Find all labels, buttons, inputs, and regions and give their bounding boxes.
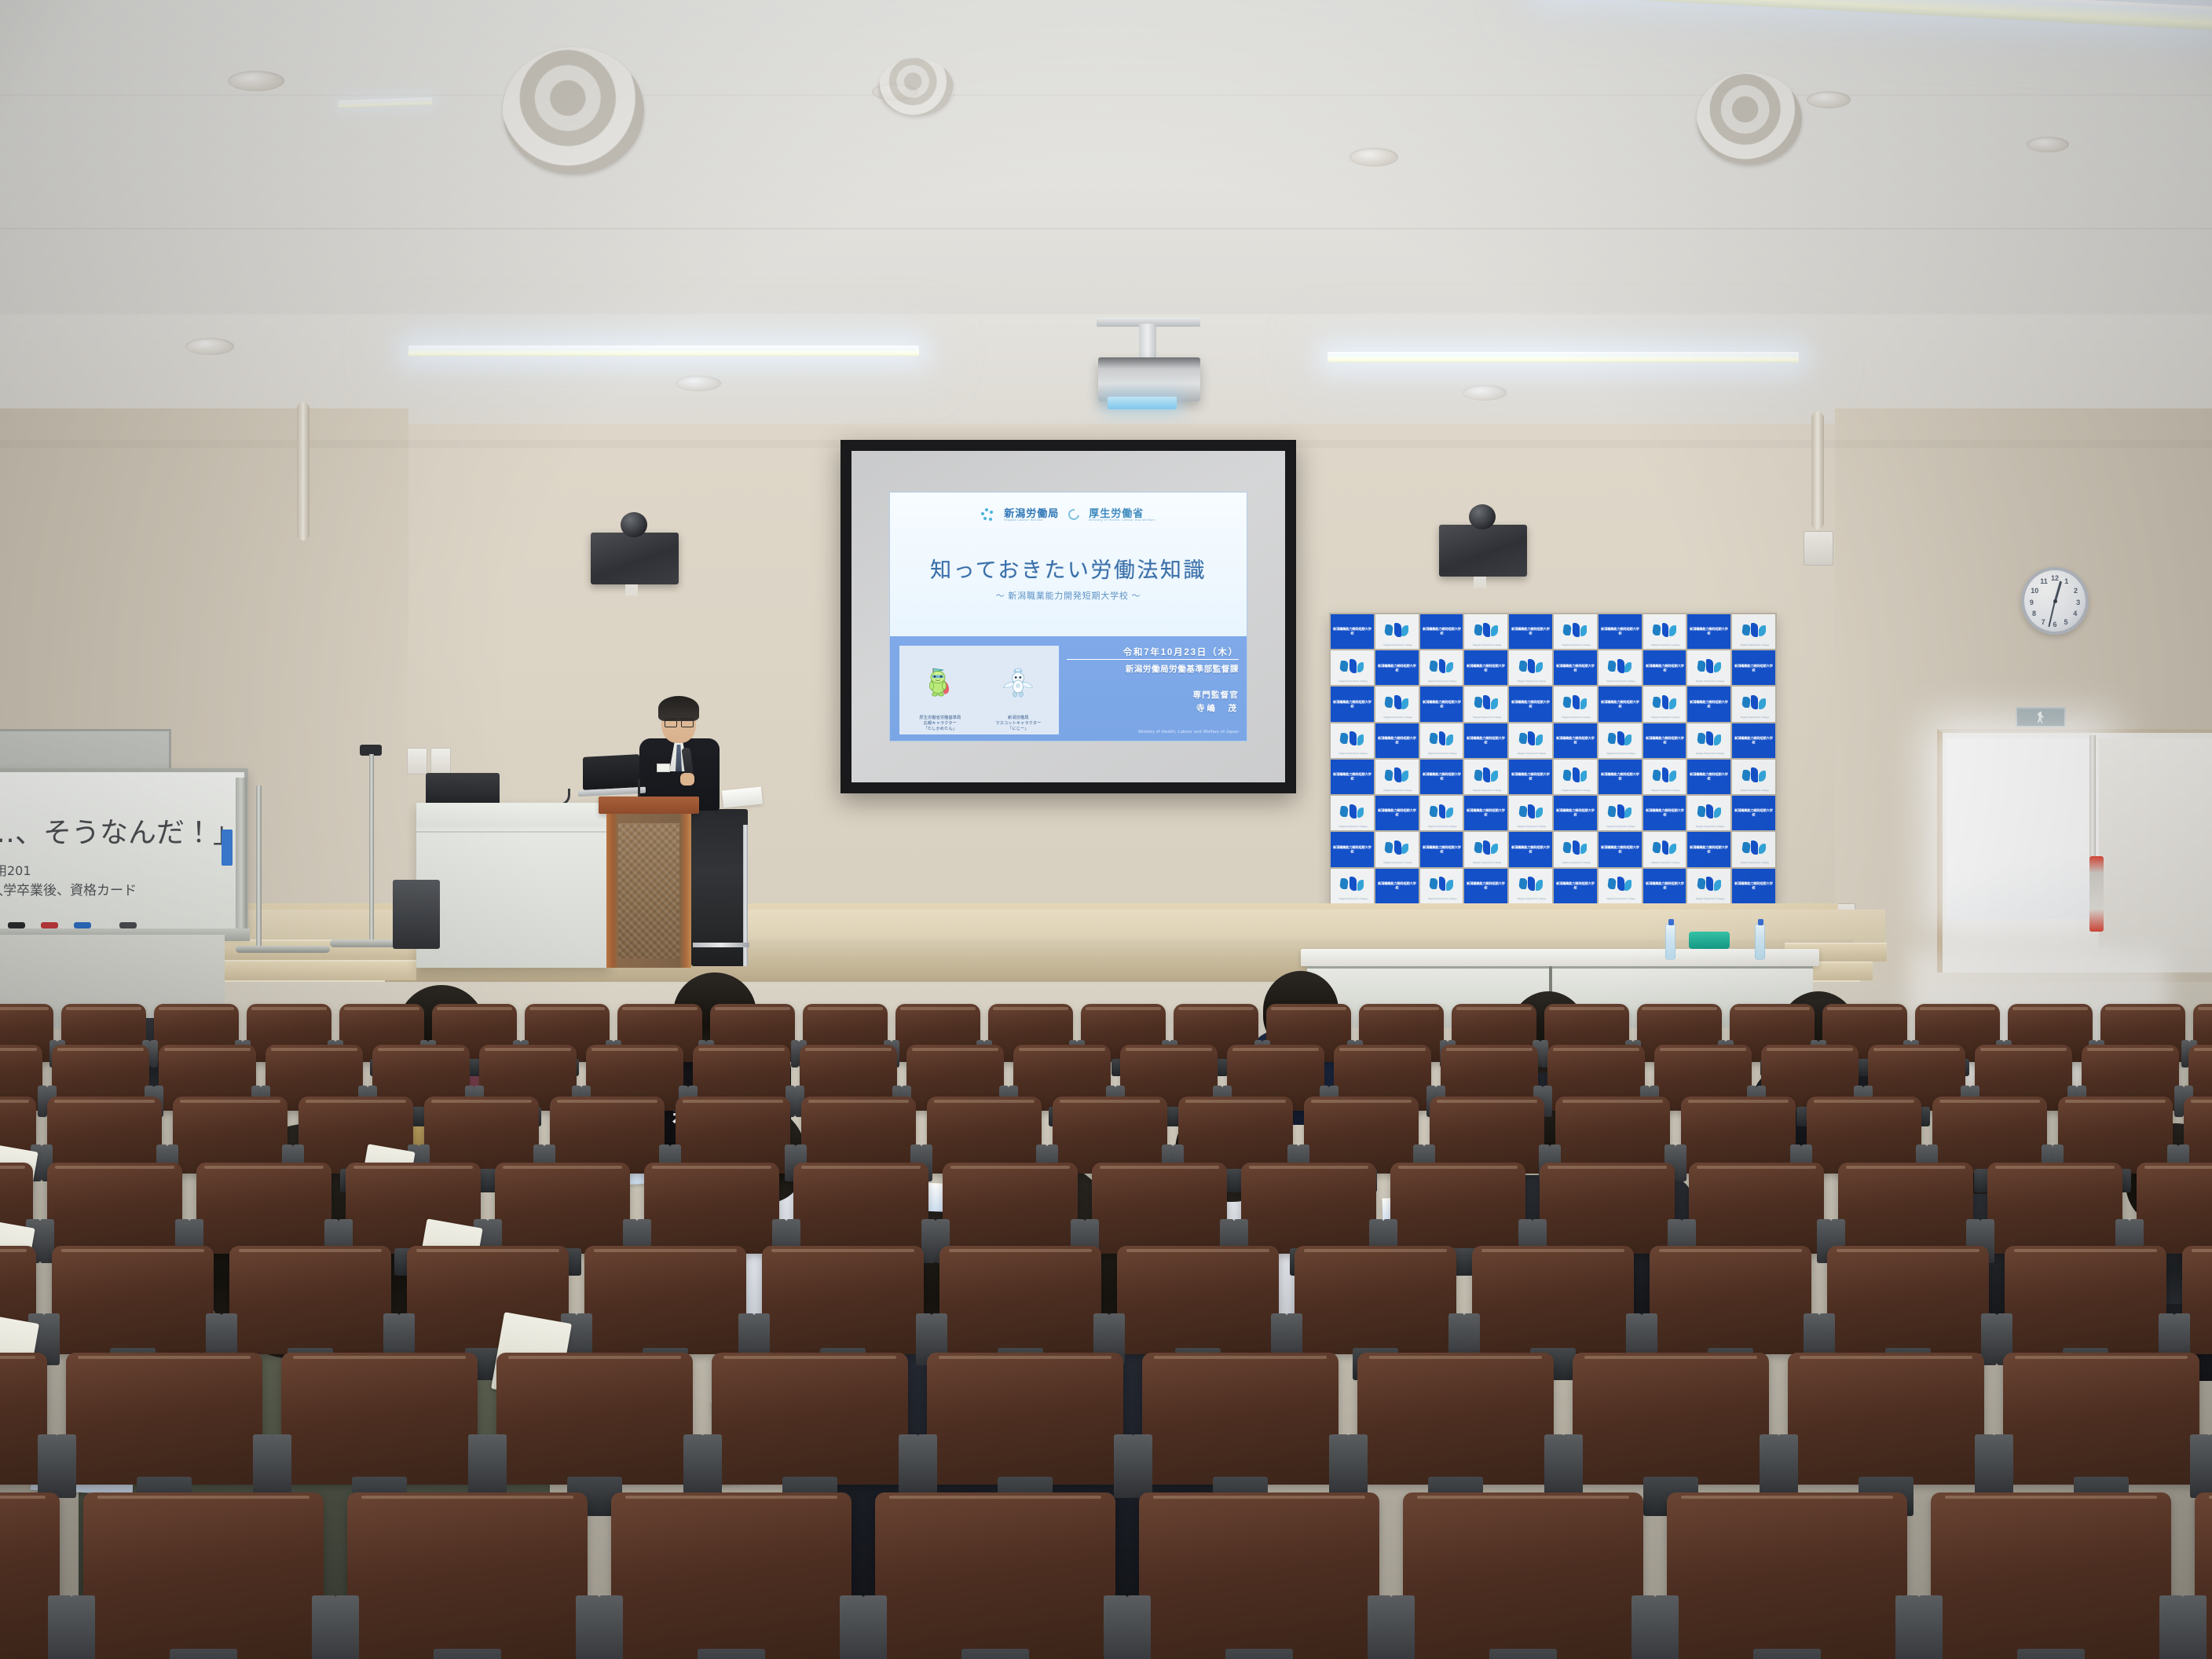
presenter-name-badge (657, 764, 670, 772)
backdrop-tile-logo: Niigata Polytechnic College (1331, 650, 1374, 685)
backdrop-tile-label: 新潟職業能力開発短期大学校 (1467, 664, 1506, 672)
auditorium-seat[interactable] (496, 1353, 693, 1485)
polytechnic-logo-icon: Niigata Polytechnic College (1606, 803, 1633, 824)
seat-pedestal (698, 1649, 765, 1659)
backdrop-tile-text: 新潟職業能力開発短期大学校 (1732, 869, 1775, 903)
backdrop-logo-caption: Niigata Polytechnic College (1383, 789, 1410, 792)
front-table-top (1301, 949, 1819, 966)
backdrop-tile-logo: Niigata Polytechnic College (1331, 723, 1374, 758)
mascot-caption: 新潟労働局 マスコットキャラクター 「にじー」 (995, 716, 1041, 732)
clock-numeral: 10 (2031, 587, 2038, 595)
polytechnic-logo-icon: Niigata Polytechnic College (1741, 766, 1767, 787)
backdrop-tile-logo: Niigata Polytechnic College (1732, 760, 1775, 794)
backdrop-tile-label: 新潟職業能力開発短期大学校 (1645, 736, 1684, 745)
backdrop-tile-label: 新潟職業能力開発短期大学校 (1377, 736, 1416, 745)
downlight-icon (185, 338, 234, 355)
polytechnic-logo-icon: Niigata Polytechnic College (1383, 694, 1410, 715)
fire-extinguisher-icon (2089, 856, 2104, 932)
slide-lower-section: 厚生労働省労働基準局 広報キャラクター 「たしかめたん」 (890, 636, 1247, 741)
auditorium-seat[interactable] (66, 1353, 262, 1485)
auditorium-seat[interactable] (1667, 1492, 1907, 1659)
seat-armrest (899, 1434, 918, 1498)
downlight-icon (1807, 91, 1851, 108)
backdrop-tile-text: 新潟職業能力開発短期大学校 (1509, 832, 1552, 866)
backdrop-logo-caption: Niigata Polytechnic College (1741, 643, 1767, 646)
backdrop-tile-label: 新潟職業能力開発短期大学校 (1555, 809, 1595, 818)
lectern-body (606, 814, 691, 968)
backdrop-logo-caption: Niigata Polytechnic College (1562, 789, 1588, 792)
auditorium-seat[interactable] (1689, 1163, 1824, 1254)
polytechnic-logo-icon: Niigata Polytechnic College (1562, 621, 1588, 642)
seat-armrest (1675, 1144, 1687, 1181)
seat-armrest (1329, 1434, 1349, 1498)
wall-clock: 12 1 2 3 4 5 6 7 8 9 10 11 (2021, 567, 2089, 635)
backdrop-tile-logo: Niigata Polytechnic College (1420, 723, 1463, 758)
auditorium-seat[interactable] (1117, 1246, 1279, 1354)
backdrop-tile-logo: Niigata Polytechnic College (1643, 760, 1686, 794)
slide-date: 令和7年10月23日（木） (1067, 646, 1239, 660)
backdrop-tile-logo: Niigata Polytechnic College (1643, 614, 1686, 649)
seat-armrest (1544, 1434, 1564, 1498)
polytechnic-logo-icon: Niigata Polytechnic College (1473, 621, 1500, 642)
backdrop-tile-logo: Niigata Polytechnic College (1687, 723, 1730, 758)
backdrop-tile-text: 新潟職業能力開発短期大学校 (1509, 760, 1552, 794)
wall-switch[interactable] (430, 748, 451, 775)
slide-speaker-name: 寺嶋 茂 (1067, 702, 1239, 714)
mascot-tashikametan: 厚生労働省労働基準局 広報キャラクター 「たしかめたん」 (903, 650, 978, 732)
backdrop-logo-caption: Niigata Polytechnic College (1741, 716, 1767, 719)
logo-text-en: Ministry of Health, Labour and Welfare (1089, 518, 1155, 522)
projector (1098, 357, 1200, 401)
auditorium-seat[interactable] (875, 1492, 1115, 1659)
auditorium-seat[interactable] (762, 1246, 924, 1354)
clock-numeral: 4 (2073, 610, 2077, 617)
backdrop-tile-logo: Niigata Polytechnic College (1599, 796, 1642, 830)
backdrop-logo-caption: Niigata Polytechnic College (1518, 752, 1544, 755)
backdrop-tile-text: 新潟職業能力開発短期大学校 (1687, 687, 1730, 721)
backdrop-tile-logo: Niigata Polytechnic College (1464, 614, 1507, 649)
backdrop-tile-logo: Niigata Polytechnic College (1643, 832, 1686, 866)
projection-screen-surface: 新潟労働局 Niigata Labour Bureau 厚生労働省 Minist… (851, 451, 1285, 782)
backdrop-logo-caption: Niigata Polytechnic College (1562, 643, 1588, 646)
backdrop-tile-label: 新潟職業能力開発短期大学校 (1422, 845, 1461, 854)
polytechnic-logo-icon: Niigata Polytechnic College (1518, 730, 1544, 751)
backdrop-tile-label: 新潟職業能力開発短期大学校 (1690, 700, 1729, 709)
backdrop-tile-logo: Niigata Polytechnic College (1687, 650, 1730, 685)
auditorium-seat[interactable] (1573, 1353, 1769, 1485)
seat-armrest (599, 1595, 624, 1659)
backdrop-tile-text: 新潟職業能力開発短期大学校 (1687, 832, 1730, 866)
ceiling-light-strip (1328, 352, 1799, 363)
auditorium-seat[interactable] (793, 1163, 928, 1254)
floor-speaker (393, 880, 440, 949)
backdrop-logo-caption: Niigata Polytechnic College (1428, 679, 1455, 683)
auditorium-seat[interactable] (644, 1163, 779, 1254)
backdrop-tile-logo: Niigata Polytechnic College (1420, 796, 1463, 830)
backdrop-tile-text: 新潟職業能力開発短期大学校 (1375, 723, 1419, 758)
backdrop-tile-logo: Niigata Polytechnic College (1732, 687, 1775, 721)
mascot-owner: 新潟労働局 (995, 716, 1041, 721)
mascot-name: 「にじー」 (995, 727, 1041, 732)
backdrop-logo-caption: Niigata Polytechnic College (1339, 752, 1365, 755)
auditorium-seat[interactable] (1092, 1163, 1227, 1254)
backdrop-tile-label: 新潟職業能力開発短期大学校 (1690, 773, 1729, 782)
green-cloth (1689, 932, 1730, 949)
backdrop-logo-caption: Niigata Polytechnic College (1428, 752, 1455, 755)
seat-pedestal (1225, 1649, 1293, 1659)
air-diffuser-icon (1697, 72, 1802, 165)
whiteboard-rail (236, 778, 247, 938)
door-panel[interactable] (2099, 738, 2212, 947)
backdrop-tile-text: 新潟職業能力開発短期大学校 (1687, 760, 1730, 794)
mascot-row: 厚生労働省労働基準局 広報キャラクター 「たしかめたん」 (903, 650, 1056, 732)
clock-numeral: 1 (2064, 577, 2068, 585)
backdrop-tile-label: 新潟職業能力開発短期大学校 (1645, 664, 1684, 672)
auditorium-seat[interactable] (1139, 1492, 1379, 1659)
exit-sign (2016, 707, 2066, 727)
backdrop-logo-caption: Niigata Polytechnic College (1651, 643, 1678, 646)
auditorium-seat[interactable] (495, 1163, 630, 1254)
presenter-hand (680, 773, 694, 786)
auditorium-seat[interactable] (1403, 1492, 1643, 1659)
backdrop-tile-label: 新潟職業能力開発短期大学校 (1422, 628, 1461, 636)
seat-pedestal (961, 1649, 1029, 1659)
backdrop-tile-logo: Niigata Polytechnic College (1331, 796, 1374, 830)
polytechnic-logo-icon: Niigata Polytechnic College (1428, 657, 1455, 679)
polytechnic-logo-icon: Niigata Polytechnic College (1383, 621, 1410, 642)
auditorium-seat[interactable] (281, 1353, 478, 1485)
wall-outlet-plate (1804, 531, 1833, 566)
slide-credits: 令和7年10月23日（木） 新潟労働局労働基準部監督課 専門監督官 寺嶋 茂 M… (1067, 646, 1239, 734)
seat-armrest (1895, 1595, 1920, 1659)
backdrop-tile-label: 新潟職業能力開発短期大学校 (1734, 736, 1773, 745)
auditorium-seat[interactable] (1540, 1163, 1675, 1254)
seat-armrest (71, 1595, 96, 1659)
auditorium-seat[interactable] (943, 1163, 1078, 1254)
downlight-icon (1463, 385, 1507, 401)
auditorium-seat[interactable] (2137, 1163, 2212, 1254)
logo-niigata-labour-bureau: 新潟労働局 Niigata Labour Bureau (1004, 508, 1059, 522)
seat-pedestal (434, 1649, 501, 1659)
backdrop-logo-caption: Niigata Polytechnic College (1606, 679, 1633, 683)
seat-armrest (1760, 1434, 1779, 1498)
mascot-kind: 広報キャラクター (919, 721, 961, 727)
seat-armrest (576, 1595, 600, 1659)
backdrop-logo-caption: Niigata Polytechnic College (1562, 861, 1588, 864)
auditorium-seat[interactable] (1987, 1163, 2122, 1254)
seat-armrest (150, 1040, 159, 1068)
seat-armrest (863, 1595, 888, 1659)
seat-armrest (2174, 1086, 2184, 1117)
seat-armrest (1114, 1434, 1133, 1498)
marker-blue[interactable] (74, 922, 91, 928)
mhlw-mark-icon (1067, 507, 1082, 522)
seat-armrest (2183, 1595, 2207, 1659)
polytechnic-logo-icon: Niigata Polytechnic College (1741, 839, 1767, 860)
auditorium-seat[interactable] (1241, 1163, 1376, 1254)
auditorium-seat[interactable] (1472, 1246, 1634, 1354)
corridor-daylight (1946, 738, 2096, 919)
auditorium-seat[interactable] (2003, 1353, 2199, 1485)
auditorium-seat[interactable] (1142, 1353, 1339, 1485)
whiteboard-magnet[interactable] (222, 829, 233, 866)
backdrop-tile-text: 新潟職業能力開発短期大学校 (1375, 796, 1419, 830)
whiteboard-line-1: …、そうなんだ！」 (0, 810, 152, 851)
niji-character-icon (1002, 650, 1034, 715)
backdrop-tile-label: 新潟職業能力開発短期大学校 (1467, 809, 1506, 818)
polytechnic-logo-icon: Niigata Polytechnic College (1741, 694, 1767, 715)
polytechnic-logo-icon: Niigata Polytechnic College (1339, 803, 1365, 824)
backdrop-tile-logo: Niigata Polytechnic College (1509, 869, 1552, 903)
backdrop-tile-label: 新潟職業能力開発短期大学校 (1422, 773, 1461, 782)
eraser[interactable] (119, 922, 137, 928)
projection-screen-frame: 新潟労働局 Niigata Labour Bureau 厚生労働省 Minist… (840, 440, 1296, 793)
polytechnic-logo-icon: Niigata Polytechnic College (1562, 766, 1588, 787)
backdrop-tile-text: 新潟職業能力開発短期大学校 (1599, 687, 1642, 721)
backdrop-tile-label: 新潟職業能力開発短期大学校 (1555, 736, 1595, 745)
backdrop-logo-caption: Niigata Polytechnic College (1383, 643, 1410, 646)
lecture-hall-photo: 12 1 2 3 4 5 6 7 8 9 10 11 (0, 0, 2212, 1659)
auditorium-seat[interactable] (1827, 1246, 1989, 1354)
backdrop-logo-caption: Niigata Polytechnic College (1741, 861, 1767, 864)
backdrop-logo-caption: Niigata Polytechnic College (1383, 716, 1410, 719)
polytechnic-logo-icon: Niigata Polytechnic College (1473, 766, 1500, 787)
marker-black[interactable] (8, 922, 25, 928)
backdrop-tile-label: 新潟職業能力開発短期大学校 (1511, 773, 1550, 782)
backdrop-tile-label: 新潟職業能力開発短期大学校 (1734, 881, 1773, 890)
lectern-microphone-icon (638, 779, 640, 798)
slide-upper-section: 新潟労働局 Niigata Labour Bureau 厚生労働省 Minist… (890, 493, 1247, 636)
backdrop-tile-text: 新潟職業能力開発短期大学校 (1599, 614, 1642, 649)
niigata-labour-bureau-mark-icon (981, 508, 994, 522)
clock-numeral: 5 (2064, 618, 2068, 626)
mascot-caption: 厚生労働省労働基準局 広報キャラクター 「たしかめたん」 (919, 716, 961, 732)
projector-lens-icon (1108, 397, 1177, 409)
backdrop-tile-text: 新潟職業能力開発短期大学校 (1331, 687, 1374, 721)
tashikametan-character-icon (925, 650, 956, 715)
polytechnic-logo-icon: Niigata Polytechnic College (1562, 839, 1588, 860)
downlight-icon (676, 375, 721, 391)
downlight-icon (1350, 148, 1398, 167)
clock-numeral: 3 (2076, 599, 2080, 606)
whiteboard-line-2: 用201 (0, 860, 31, 879)
seat-armrest (2190, 1434, 2210, 1498)
auditorium-seat[interactable] (196, 1163, 331, 1254)
backdrop-logo-caption: Niigata Polytechnic College (1383, 861, 1410, 864)
backdrop-tile-logo: Niigata Polytechnic College (1509, 723, 1552, 758)
water-bottle[interactable] (1665, 924, 1675, 960)
backdrop-tile-label: 新潟職業能力開発短期大学校 (1690, 628, 1729, 636)
auditorium-seat[interactable] (1390, 1163, 1525, 1254)
backdrop-logo-caption: Niigata Polytechnic College (1651, 789, 1678, 792)
backdrop-tile-text: 新潟職業能力開発短期大学校 (1331, 760, 1374, 794)
polytechnic-logo-icon: Niigata Polytechnic College (1428, 803, 1455, 824)
water-bottle[interactable] (1755, 924, 1765, 960)
auditorium-seat[interactable] (1931, 1492, 2171, 1659)
wall-switch[interactable] (407, 748, 427, 775)
backdrop-tile-label: 新潟職業能力開発短期大学校 (1600, 628, 1639, 636)
backdrop-tile-logo: Niigata Polytechnic College (1599, 723, 1642, 758)
mascot-niji: 新潟労働局 マスコットキャラクター 「にじー」 (981, 650, 1057, 732)
auditorium-seat[interactable] (47, 1163, 182, 1254)
backdrop-tile-text: 新潟職業能力開発短期大学校 (1375, 869, 1419, 903)
backdrop-tile-logo: Niigata Polytechnic College (1509, 650, 1552, 685)
backdrop-logo-caption: Niigata Polytechnic College (1518, 679, 1544, 683)
backdrop-logo-caption: Niigata Polytechnic College (1428, 825, 1455, 828)
polytechnic-logo-icon: Niigata Polytechnic College (1696, 657, 1723, 679)
auditorium-seat[interactable] (1838, 1163, 1973, 1254)
backdrop-tile-logo: Niigata Polytechnic College (1599, 650, 1642, 685)
backdrop-tile-logo: Niigata Polytechnic College (1464, 832, 1507, 866)
mascot-kind: マスコットキャラクター (995, 721, 1041, 727)
polytechnic-logo-icon: Niigata Polytechnic College (1518, 657, 1544, 679)
backdrop-tile-logo: Niigata Polytechnic College (1331, 869, 1374, 903)
backdrop-tile-text: 新潟職業能力開発短期大学校 (1554, 723, 1597, 758)
backdrop-tile-text: 新潟職業能力開発短期大学校 (1554, 796, 1597, 830)
backdrop-logo-caption: Niigata Polytechnic College (1696, 897, 1723, 900)
backdrop-tile-label: 新潟職業能力開発短期大学校 (1734, 809, 1773, 818)
backdrop-tile-logo: Niigata Polytechnic College (1554, 614, 1597, 649)
backdrop-tile-logo: Niigata Polytechnic College (1554, 760, 1597, 794)
backdrop-tile-text: 新潟職業能力開発短期大学校 (1732, 723, 1775, 758)
backdrop-tile-logo: Niigata Polytechnic College (1464, 687, 1507, 721)
backdrop-logo-caption: Niigata Polytechnic College (1473, 861, 1500, 864)
backdrop-tile-label: 新潟職業能力開発短期大学校 (1377, 881, 1416, 890)
whiteboard-stand-foot (236, 946, 330, 953)
backdrop-tile-label: 新潟職業能力開発短期大学校 (1690, 845, 1729, 854)
auditorium-seat[interactable] (83, 1492, 324, 1659)
backdrop-tile-logo: Niigata Polytechnic College (1420, 650, 1463, 685)
marker-red[interactable] (41, 922, 58, 928)
backdrop-logo-caption: Niigata Polytechnic College (1473, 789, 1500, 792)
seat-armrest (1994, 1434, 2013, 1498)
backdrop-tile-text: 新潟職業能力開発短期大学校 (1599, 760, 1642, 794)
backdrop-tile-logo: Niigata Polytechnic College (1464, 760, 1507, 794)
backdrop-tile-text: 新潟職業能力開発短期大学校 (1331, 614, 1374, 649)
backdrop-tile-text: 新潟職業能力開発短期大学校 (1687, 614, 1730, 649)
backdrop-tile-logo: Niigata Polytechnic College (1732, 832, 1775, 866)
backdrop-tile-label: 新潟職業能力開発短期大学校 (1600, 773, 1639, 782)
backdrop-tile-label: 新潟職業能力開発短期大学校 (1734, 664, 1773, 672)
backdrop-tile-text: 新潟職業能力開発短期大学校 (1732, 796, 1775, 830)
clock-numeral: 8 (2032, 610, 2036, 617)
auditorium-seat[interactable] (584, 1246, 746, 1354)
backdrop-tile-text: 新潟職業能力開発短期大学校 (1599, 832, 1642, 866)
backdrop-tile-logo: Niigata Polytechnic College (1375, 832, 1419, 866)
slide-title: 知っておきたい労働法知識 (930, 553, 1207, 584)
eyeglasses-icon (665, 718, 694, 724)
backdrop-tile-label: 新潟職業能力開発短期大学校 (1377, 809, 1416, 818)
backdrop-tile-text: 新潟職業能力開発短期大学校 (1464, 796, 1507, 830)
ceiling-light-strip (408, 346, 919, 357)
backdrop-tile-logo: Niigata Polytechnic College (1375, 760, 1419, 794)
backdrop-tile-text: 新潟職業能力開発短期大学校 (1464, 723, 1507, 758)
auditorium-seat[interactable] (611, 1492, 851, 1659)
backdrop-tile-text: 新潟職業能力開発短期大学校 (1420, 614, 1463, 649)
projector-mount-pole (1139, 324, 1156, 361)
backdrop-tile-label: 新潟職業能力開発短期大学校 (1467, 736, 1506, 745)
backdrop-tile-text: 新潟職業能力開発短期大学校 (1420, 760, 1463, 794)
slide-title-block: 知っておきたい労働法知識 ～ 新潟職業能力開発短期大学校 ～ (890, 524, 1247, 636)
backdrop-tile-label: 新潟職業能力開発短期大学校 (1422, 700, 1461, 709)
backdrop-tile-text: 新潟職業能力開発短期大学校 (1464, 869, 1507, 903)
air-diffuser-icon (503, 47, 644, 174)
auditorium-seat[interactable] (1357, 1353, 1554, 1485)
seat-armrest (468, 1434, 488, 1498)
slide-footer: Ministry of Health, Labour and Welfare o… (1067, 730, 1239, 734)
backdrop-tile-text: 新潟職業能力開発短期大学校 (1643, 796, 1686, 830)
backdrop-tile-label: 新潟職業能力開発短期大学校 (1332, 845, 1372, 854)
auditorium-seat[interactable] (1295, 1246, 1456, 1354)
clock-numeral: 9 (2030, 599, 2034, 606)
backdrop-logo-caption: Niigata Polytechnic College (1562, 716, 1588, 719)
presenter-laptop[interactable] (583, 754, 639, 790)
backdrop-logo-caption: Niigata Polytechnic College (1473, 716, 1500, 719)
stage-step (196, 960, 416, 980)
seat-armrest (917, 1434, 937, 1498)
auditorium-seat[interactable] (939, 1246, 1101, 1354)
polytechnic-logo-icon: Niigata Polytechnic College (1473, 694, 1500, 715)
auditorium-seat[interactable] (52, 1246, 214, 1354)
backdrop-tile-label: 新潟職業能力開発短期大学校 (1332, 700, 1372, 709)
polytechnic-logo-icon: Niigata Polytechnic College (1696, 803, 1723, 824)
auditorium-seat[interactable] (1650, 1246, 1811, 1354)
auditorium-seat[interactable] (1788, 1353, 1984, 1485)
backdrop-logo-caption: Niigata Polytechnic College (1696, 752, 1723, 755)
seat-armrest (1632, 1595, 1656, 1659)
seat-armrest (2159, 1595, 2184, 1659)
seat-armrest (487, 1434, 507, 1498)
seat-armrest (1104, 1595, 1128, 1659)
backdrop-logo-caption: Niigata Polytechnic College (1473, 643, 1500, 646)
seat-armrest (1391, 1595, 1415, 1659)
seat-armrest (272, 1434, 291, 1498)
auditorium-seat[interactable] (712, 1353, 908, 1485)
clock-numeral: 12 (2051, 574, 2059, 582)
seat-armrest (840, 1595, 864, 1659)
ceiling-seam (0, 228, 2212, 229)
auditorium-seat[interactable] (927, 1353, 1123, 1485)
backdrop-logo-caption: Niigata Polytechnic College (1428, 897, 1455, 900)
backdrop-logo-caption: Niigata Polytechnic College (1339, 897, 1365, 900)
backdrop-tile-logo: Niigata Polytechnic College (1599, 869, 1642, 903)
backdrop-logo-caption: Niigata Polytechnic College (1741, 789, 1767, 792)
backdrop-logo-caption: Niigata Polytechnic College (1518, 897, 1544, 900)
mascot-panel: 厚生労働省労働基準局 広報キャラクター 「たしかめたん」 (899, 646, 1059, 734)
polytechnic-logo-icon: Niigata Polytechnic College (1651, 621, 1678, 642)
seat-armrest (48, 1595, 72, 1659)
polytechnic-logo-icon: Niigata Polytechnic College (1383, 766, 1410, 787)
polytechnic-logo-icon: Niigata Polytechnic College (1562, 694, 1588, 715)
backdrop-logo-caption: Niigata Polytechnic College (1606, 897, 1633, 900)
auditorium-seat[interactable] (229, 1246, 391, 1354)
auditorium-seat[interactable] (2005, 1246, 2166, 1354)
seat-armrest (1919, 1595, 1943, 1659)
av-console-cabinet (416, 803, 610, 968)
seat-armrest (312, 1595, 336, 1659)
chair-leg (693, 943, 749, 947)
backdrop-logo-caption: Niigata Polytechnic College (1651, 716, 1678, 719)
polytechnic-logo-icon: Niigata Polytechnic College (1741, 621, 1767, 642)
backdrop-tile-logo: Niigata Polytechnic College (1687, 869, 1730, 903)
clock-numeral: 7 (2042, 618, 2045, 626)
auditorium-seat[interactable] (347, 1492, 588, 1659)
backdrop-tile-label: 新潟職業能力開発短期大学校 (1511, 845, 1550, 854)
whiteboard[interactable]: …、そうなんだ！」 用201 入学卒業後、資格カード (0, 768, 248, 933)
backdrop-tile-label: 新潟職業能力開発短期大学校 (1467, 881, 1506, 890)
backdrop-tile-label: 新潟職業能力開発短期大学校 (1600, 700, 1639, 709)
lectern-front-panel (618, 823, 679, 958)
